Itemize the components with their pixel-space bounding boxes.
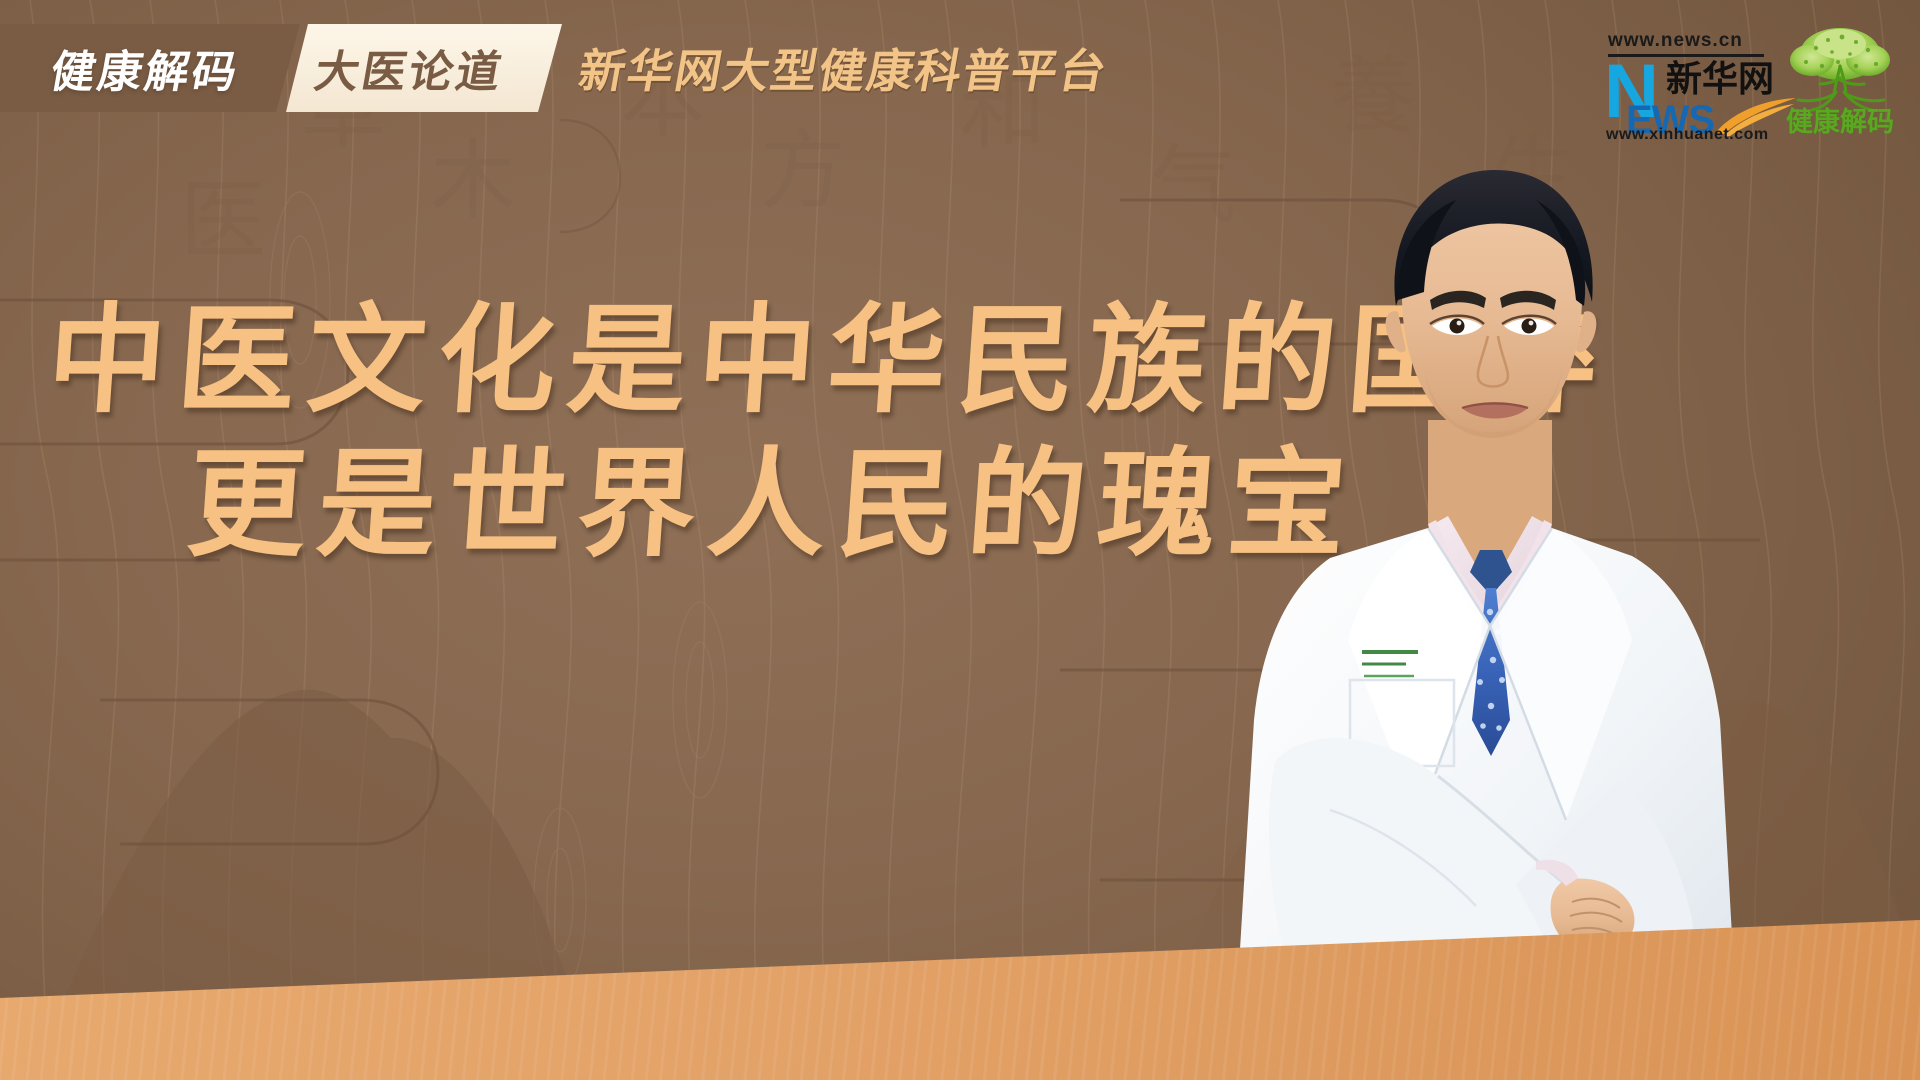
- segment-tag-label: 大医论道: [310, 36, 509, 100]
- svg-text:方: 方: [760, 121, 846, 221]
- svg-text:木: 木: [430, 131, 516, 231]
- main-title-line-1: 中医文化是中华民族的国粹: [0, 296, 1184, 424]
- program-tag-label: 健康解码: [46, 36, 245, 100]
- svg-text:医: 医: [180, 171, 266, 271]
- xinhua-brand-cn: 新华网: [1666, 60, 1774, 98]
- main-title: 中医文化是中华民族的国粹 更是世界人民的瑰宝: [0, 296, 1180, 568]
- poster-canvas: 草 木 本 方 和 气 養 生 医 脉 健康解码 大医论道 新华网大型健康科普平…: [0, 0, 1920, 1080]
- main-title-line-2: 更是世界人民的瑰宝: [0, 440, 1184, 568]
- header-subtitle: 新华网大型健康科普平台: [574, 35, 1114, 101]
